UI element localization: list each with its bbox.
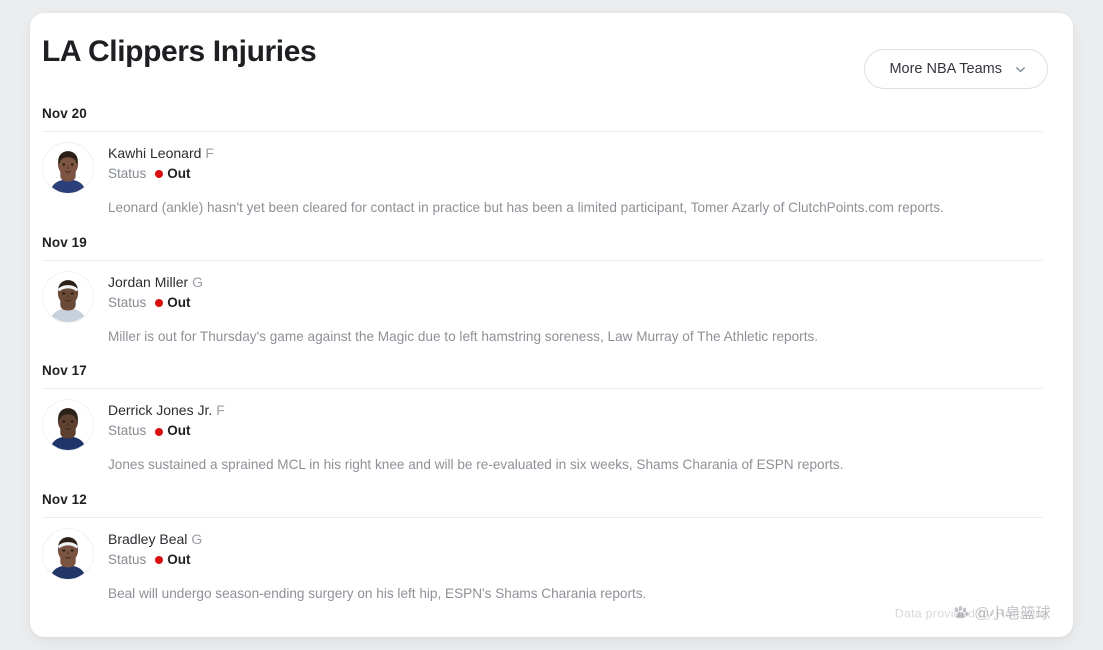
injury-entry: Bradley BealGStatusOutBeal will undergo … — [42, 517, 1043, 607]
injury-list: Nov 20 Kawhi LeonardFStatusOutLeonard (a… — [42, 106, 1043, 607]
injuries-card: LA Clippers Injuries More NBA Teams Nov … — [30, 13, 1073, 637]
injury-entry: Kawhi LeonardFStatusOutLeonard (ankle) h… — [42, 131, 1043, 221]
injury-date-group: Nov 12 Bradley BealGStatusOutBeal will u… — [42, 492, 1043, 607]
status-dot-icon — [155, 428, 163, 436]
player-avatar — [42, 142, 94, 194]
player-avatar — [42, 528, 94, 580]
entry-body: Bradley BealGStatusOutBeal will undergo … — [108, 528, 1043, 607]
status-label: Status — [108, 293, 146, 314]
card-header: LA Clippers Injuries More NBA Teams — [42, 35, 1043, 89]
status-line: StatusOut — [108, 550, 1043, 571]
injury-description: Jones sustained a sprained MCL in his ri… — [108, 454, 1043, 478]
injury-date-group: Nov 20 Kawhi LeonardFStatusOutLeonard (a… — [42, 106, 1043, 221]
player-position: G — [191, 531, 202, 547]
player-avatar — [42, 271, 94, 323]
player-line: Jordan MillerG — [108, 272, 1043, 293]
player-name[interactable]: Jordan Miller — [108, 274, 188, 290]
page-root: LA Clippers Injuries More NBA Teams Nov … — [0, 0, 1103, 650]
status-badge: Out — [167, 164, 190, 185]
player-position: F — [205, 145, 214, 161]
status-line: StatusOut — [108, 421, 1043, 442]
player-name[interactable]: Derrick Jones Jr. — [108, 402, 212, 418]
entry-body: Jordan MillerGStatusOutMiller is out for… — [108, 271, 1043, 350]
player-position: G — [192, 274, 203, 290]
injury-description: Beal will undergo season-ending surgery … — [108, 583, 1043, 607]
player-name[interactable]: Bradley Beal — [108, 531, 187, 547]
status-label: Status — [108, 164, 146, 185]
player-position: F — [216, 402, 225, 418]
status-badge: Out — [167, 550, 190, 571]
injury-entry: Derrick Jones Jr.FStatusOutJones sustain… — [42, 388, 1043, 478]
player-name[interactable]: Kawhi Leonard — [108, 145, 201, 161]
card-content: LA Clippers Injuries More NBA Teams Nov … — [30, 13, 1073, 637]
entry-body: Derrick Jones Jr.FStatusOutJones sustain… — [108, 399, 1043, 478]
date-label: Nov 20 — [42, 106, 1043, 121]
status-line: StatusOut — [108, 164, 1043, 185]
date-label: Nov 12 — [42, 492, 1043, 507]
injury-description: Leonard (ankle) hasn't yet been cleared … — [108, 197, 1043, 221]
injury-date-group: Nov 17 Derrick Jones Jr.FStatusOutJones … — [42, 363, 1043, 478]
status-label: Status — [108, 421, 146, 442]
player-line: Derrick Jones Jr.F — [108, 400, 1043, 421]
chevron-down-icon — [1014, 63, 1027, 76]
player-line: Kawhi LeonardF — [108, 143, 1043, 164]
status-line: StatusOut — [108, 293, 1043, 314]
more-nba-teams-label: More NBA Teams — [889, 61, 1002, 77]
more-nba-teams-button[interactable]: More NBA Teams — [864, 49, 1048, 89]
status-dot-icon — [155, 299, 163, 307]
player-avatar — [42, 399, 94, 451]
player-line: Bradley BealG — [108, 529, 1043, 550]
injury-entry: Jordan MillerGStatusOutMiller is out for… — [42, 260, 1043, 350]
date-label: Nov 19 — [42, 235, 1043, 250]
status-dot-icon — [155, 170, 163, 178]
status-label: Status — [108, 550, 146, 571]
status-badge: Out — [167, 421, 190, 442]
date-label: Nov 17 — [42, 363, 1043, 378]
page-title: LA Clippers Injuries — [42, 35, 316, 70]
status-badge: Out — [167, 293, 190, 314]
status-dot-icon — [155, 556, 163, 564]
injury-date-group: Nov 19 Jordan MillerGStatusOutMiller is … — [42, 235, 1043, 350]
injury-description: Miller is out for Thursday's game agains… — [108, 326, 1043, 350]
entry-body: Kawhi LeonardFStatusOutLeonard (ankle) h… — [108, 142, 1043, 221]
